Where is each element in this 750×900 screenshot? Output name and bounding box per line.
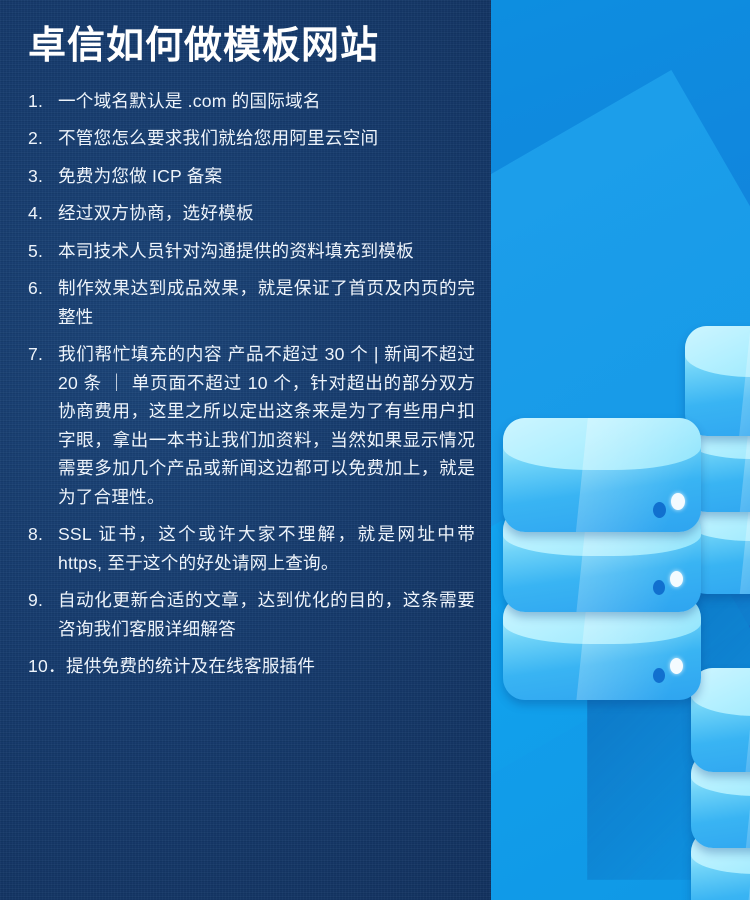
list-item: 8. SSL 证书，这个或许大家不理解，就是网址中带 https, 至于这个的好… <box>28 520 475 577</box>
page-title: 卓信如何做模板网站 <box>28 24 475 69</box>
server-stack-main-icon <box>503 418 701 686</box>
list-item: 10． 提供免费的统计及在线客服插件 <box>28 652 475 681</box>
server-stack-lower-icon <box>691 668 750 900</box>
list-item-text: 经过双方协商，选好模板 <box>58 199 475 228</box>
illustration-panel <box>491 0 750 900</box>
list-item-number: 8. <box>28 520 58 549</box>
list-item-number: 7. <box>28 340 58 369</box>
list-item: 4. 经过双方协商，选好模板 <box>28 199 475 228</box>
list-item-number: 10． <box>28 652 66 681</box>
list-item: 7. 我们帮忙填充的内容 产品不超过 30 个 | 新闻不超过 20 条 ｜ 单… <box>28 340 475 511</box>
list-item-text: 免费为您做 ICP 备案 <box>58 162 475 191</box>
list-item: 6. 制作效果达到成品效果，就是保证了首页及内页的完整性 <box>28 274 475 331</box>
list-item: 2. 不管您怎么要求我们就给您用阿里云空间 <box>28 124 475 153</box>
list-item-text: 制作效果达到成品效果，就是保证了首页及内页的完整性 <box>58 274 475 331</box>
list-item-text: 提供免费的统计及在线客服插件 <box>66 652 475 681</box>
list-item-text: 本司技术人员针对沟通提供的资料填充到模板 <box>58 237 475 266</box>
list-item-number: 6. <box>28 274 58 303</box>
list-item-text: 一个域名默认是 .com 的国际域名 <box>58 87 475 116</box>
server-led-dark-icon <box>653 668 665 683</box>
list-item: 1. 一个域名默认是 .com 的国际域名 <box>28 87 475 116</box>
list-item-number: 3. <box>28 162 58 191</box>
list-item-number: 9. <box>28 586 58 615</box>
list-item-number: 5. <box>28 237 58 266</box>
list-item: 9. 自动化更新合适的文章，达到优化的目的，这条需要咨询我们客服详细解答 <box>28 586 475 643</box>
list-item-number: 4. <box>28 199 58 228</box>
server-led-dark-icon <box>653 502 666 518</box>
server-led-bright-icon <box>670 571 683 587</box>
text-panel: 卓信如何做模板网站 1. 一个域名默认是 .com 的国际域名 2. 不管您怎么… <box>0 0 491 900</box>
list-item-text: SSL 证书，这个或许大家不理解，就是网址中带 https, 至于这个的好处请网… <box>58 520 475 577</box>
content-column: 卓信如何做模板网站 1. 一个域名默认是 .com 的国际域名 2. 不管您怎么… <box>0 0 491 681</box>
list-item-number: 1. <box>28 87 58 116</box>
list-item: 3. 免费为您做 ICP 备案 <box>28 162 475 191</box>
list-item: 5. 本司技术人员针对沟通提供的资料填充到模板 <box>28 237 475 266</box>
list-item-text: 自动化更新合适的文章，达到优化的目的，这条需要咨询我们客服详细解答 <box>58 586 475 643</box>
server-led-dark-icon <box>653 580 665 595</box>
server-sheen <box>575 418 701 532</box>
list-item-text: 不管您怎么要求我们就给您用阿里云空间 <box>58 124 475 153</box>
server-unit <box>503 418 701 532</box>
server-top-face <box>685 326 750 377</box>
poster-root: 卓信如何做模板网站 1. 一个域名默认是 .com 的国际域名 2. 不管您怎么… <box>0 0 750 900</box>
server-led-bright-icon <box>670 658 683 674</box>
list-item-text: 我们帮忙填充的内容 产品不超过 30 个 | 新闻不超过 20 条 ｜ 单页面不… <box>58 340 475 511</box>
feature-list: 1. 一个域名默认是 .com 的国际域名 2. 不管您怎么要求我们就给您用阿里… <box>28 87 475 681</box>
list-item-number: 2. <box>28 124 58 153</box>
server-led-bright-icon <box>671 493 685 510</box>
